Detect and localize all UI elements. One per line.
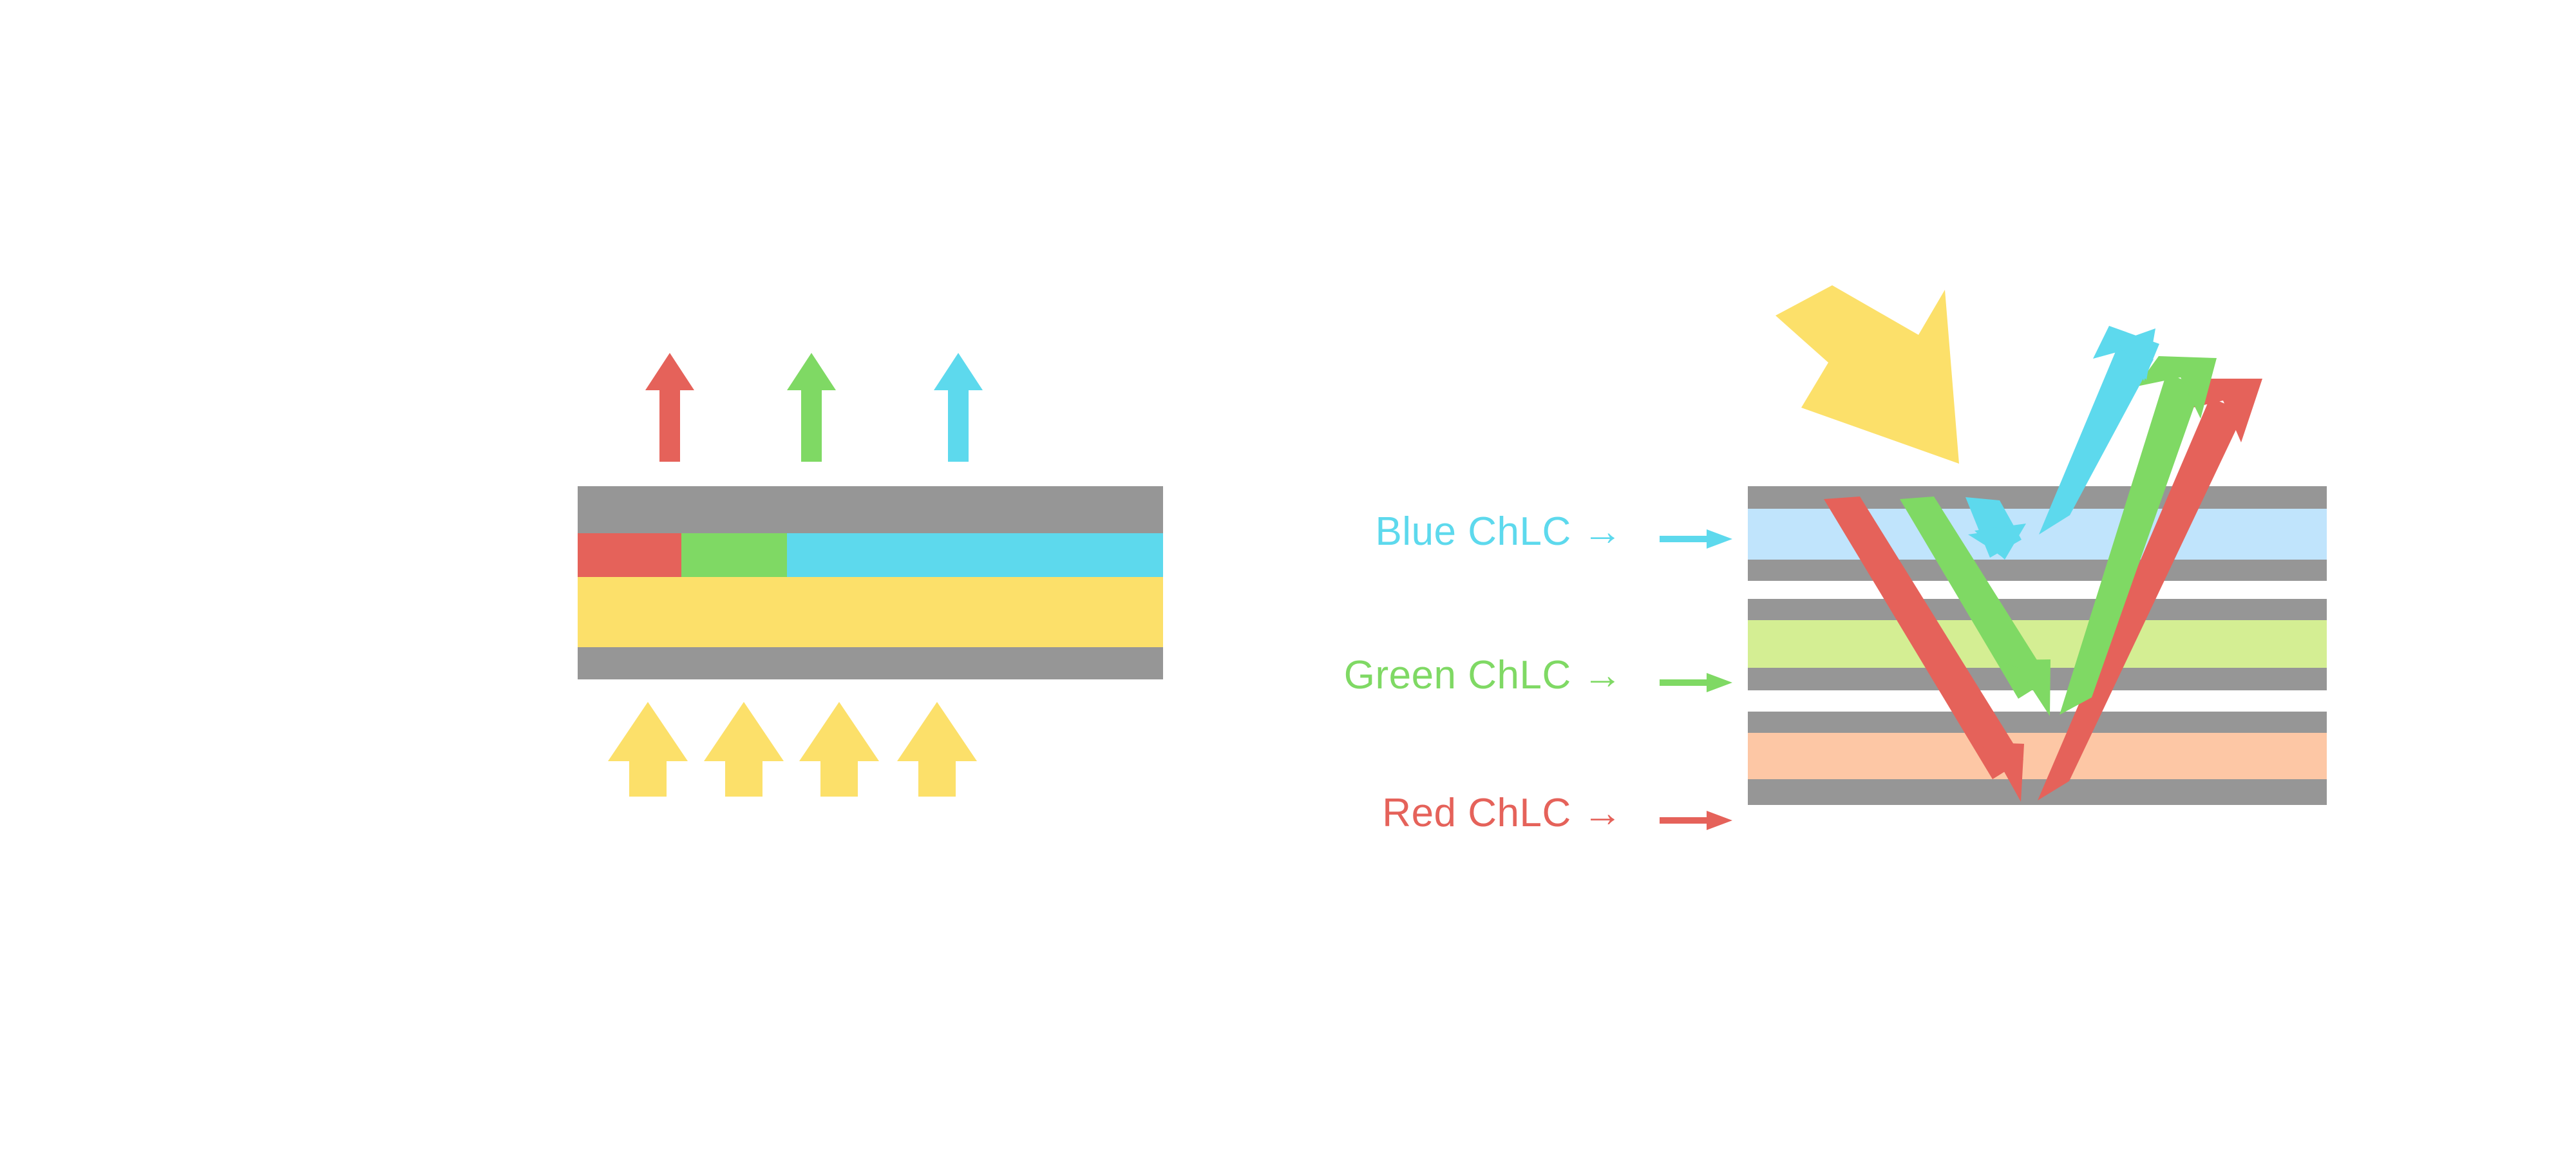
blue-cell-substrate-bottom — [1748, 560, 2327, 581]
red-label-leader-arrow — [1660, 811, 1732, 830]
red-cell-substrate-top — [1748, 712, 2327, 733]
right-panel-graphics — [0, 0, 2576, 1154]
label-green-chlc: Green ChLC → — [1262, 656, 1623, 695]
red-cell-substrate-bottom — [1748, 779, 2327, 805]
label-blue-chlc: Blue ChLC → — [1262, 512, 1623, 552]
diagram-canvas: Blue ChLC → Green ChLC → Red ChLC → — [0, 0, 2576, 1154]
red-chlc-cell — [1748, 712, 2327, 805]
label-leader-arrows — [1660, 529, 1732, 830]
red-cell-active-layer — [1748, 733, 2327, 779]
blue-label-leader-arrow — [1660, 529, 1732, 549]
green-label-leader-arrow — [1660, 673, 1732, 692]
green-cell-substrate-top — [1748, 599, 2327, 620]
label-red-chlc: Red ChLC → — [1262, 793, 1623, 833]
incident-white-light-arrow — [1776, 285, 1959, 464]
